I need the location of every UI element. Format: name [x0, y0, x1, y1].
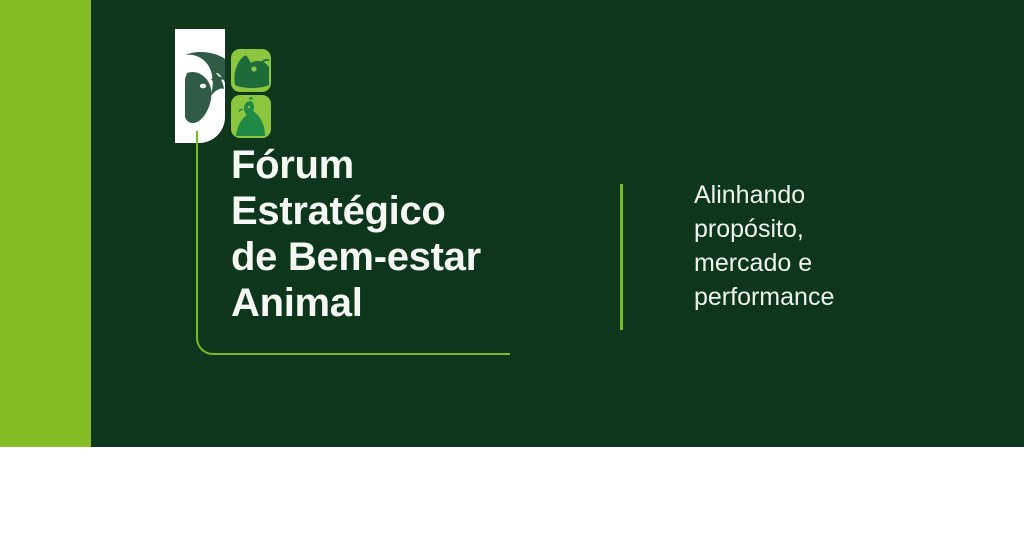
- page-title: Fórum Estratégico de Bem-estar Animal: [231, 142, 571, 326]
- forum-logo-mark: [173, 29, 271, 146]
- tagline-line-1: Alinhando: [694, 178, 994, 212]
- tagline-line-2: propósito,: [694, 212, 994, 246]
- title-line-3: de Bem-estar: [231, 234, 571, 280]
- title-line-1: Fórum: [231, 142, 571, 188]
- tagline: Alinhando propósito, mercado e performan…: [694, 178, 994, 314]
- sponsor-strip: Empresas COBEA Produtor do Bem: [0, 447, 1024, 536]
- tagline-line-3: mercado e: [694, 246, 994, 280]
- banner-background-lime-panel: [0, 0, 91, 447]
- tagline-line-4: performance: [694, 280, 994, 314]
- event-banner: Fórum Estratégico de Bem-estar Animal Al…: [0, 0, 1024, 536]
- vertical-divider: [620, 184, 623, 330]
- title-line-2: Estratégico: [231, 188, 571, 234]
- title-line-4: Animal: [231, 280, 571, 326]
